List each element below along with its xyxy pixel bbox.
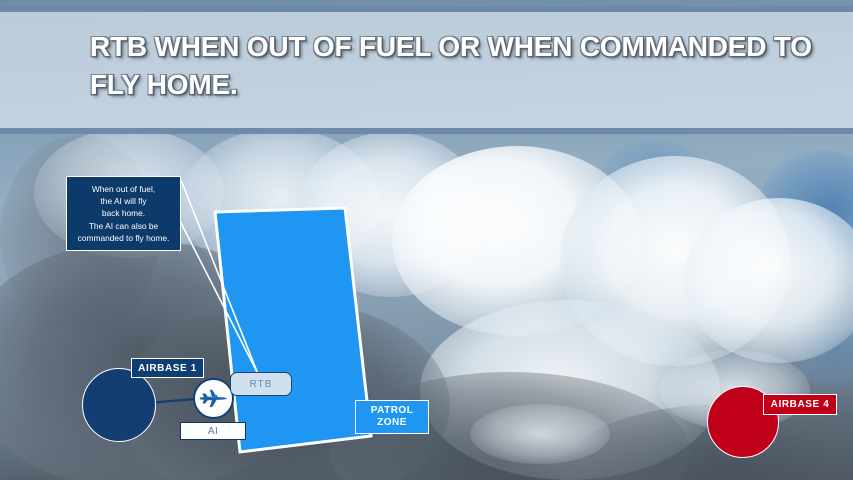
label-airbase-1[interactable]: AIRBASE 1 — [131, 358, 204, 378]
fighter-jet-icon — [199, 386, 229, 412]
label-rtb[interactable]: RTB — [230, 372, 292, 396]
label-ai[interactable]: AI — [180, 422, 246, 440]
airbase-1-marker[interactable] — [82, 368, 156, 442]
slide-canvas: RTB WHEN OUT OF FUEL OR WHEN COMMANDED T… — [0, 0, 853, 480]
callout-box: When out of fuel, the AI will fly back h… — [66, 176, 181, 251]
label-airbase-4[interactable]: AIRBASE 4 — [763, 394, 837, 415]
patrol-zone-polygon[interactable] — [215, 208, 371, 452]
aircraft-icon[interactable] — [193, 378, 234, 419]
label-patrol-zone[interactable]: PATROL ZONE — [355, 400, 429, 434]
